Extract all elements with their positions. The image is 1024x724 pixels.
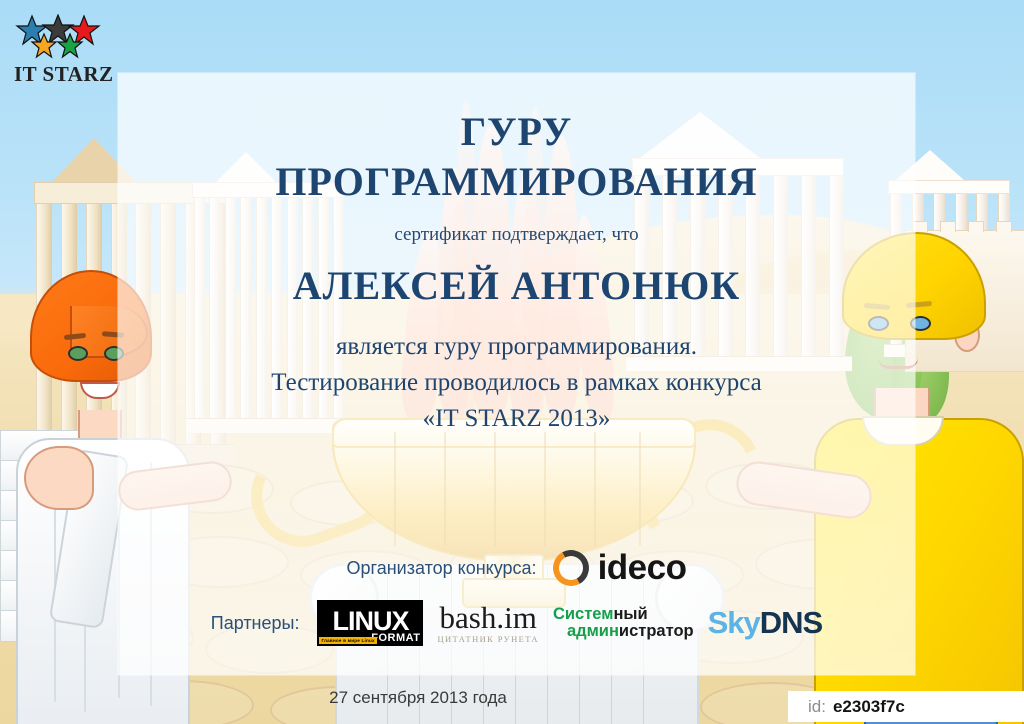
certificate-body-line2: Тестирование проводилось в рамках конкур… xyxy=(118,369,915,397)
woman-eye-left xyxy=(68,346,88,361)
skydns-part2: DNS xyxy=(760,605,822,640)
recipient-name: АЛЕКСЕЙ АНТОНЮК xyxy=(118,262,915,309)
logo-stars xyxy=(14,14,114,58)
sysadmin-row1: Системный xyxy=(553,606,694,623)
certificate-id-value: e2303f7c xyxy=(833,697,905,717)
sysadmin-row2-black: истратор xyxy=(619,622,694,640)
partner-logo-sistemny-administrator: Системный администратор xyxy=(553,606,694,640)
sysadmin-row1-green: Систем xyxy=(553,605,613,623)
certificate-canvas: IT STARZ ГУРУ ПРОГРАММИРОВАНИЯ сертифика… xyxy=(0,0,1024,724)
certificate-body-line3: «IT STARZ 2013» xyxy=(118,405,915,433)
certificate-id-label: id: xyxy=(808,697,826,717)
linux-format-sub: FORMAT xyxy=(371,632,420,644)
certificate-id-box: id: e2303f7c xyxy=(788,691,1024,722)
certificate-body-line1: является гуру программирования. xyxy=(118,333,915,361)
organizer-label: Организатор конкурса: xyxy=(347,558,537,579)
partners-row: Партнеры: LINUX FORMAT Главное в мире Li… xyxy=(118,600,915,646)
partner-logo-skydns: SkyDNS xyxy=(708,605,823,641)
sysadmin-row1-black: ный xyxy=(613,605,647,623)
woman-mouth xyxy=(80,382,120,399)
certificate-date: 27 сентября 2013 года xyxy=(118,688,718,708)
it-starz-logo: IT STARZ xyxy=(14,14,114,92)
certificate-title-line1: ГУРУ xyxy=(118,108,915,155)
sysadmin-row2-green: админ xyxy=(567,622,619,640)
ideco-wordmark: ideco xyxy=(598,548,687,588)
partner-logo-linux-format: LINUX FORMAT Главное в мире Linux xyxy=(317,600,423,646)
ideco-logo: ideco xyxy=(553,548,687,588)
organizer-row: Организатор конкурса: ideco xyxy=(118,548,915,588)
certificate-title-line2: ПРОГРАММИРОВАНИЯ xyxy=(118,158,915,205)
partners-label: Партнеры: xyxy=(211,613,300,634)
certificate-subline: сертификат подтверждает, что xyxy=(118,224,915,246)
star-red xyxy=(69,16,99,44)
bash-im-main: bash.im xyxy=(440,602,537,633)
ideco-swirl-icon xyxy=(553,550,589,586)
woman-shoulder xyxy=(24,446,94,510)
bash-im-sub: ЦИТАТНИК РУНЕТА xyxy=(437,634,538,644)
partner-logo-bash-im: bash.im ЦИТАТНИК РУНЕТА xyxy=(437,602,538,644)
skydns-part1: Sky xyxy=(708,605,760,640)
linux-format-tagline: Главное в мире Linux xyxy=(319,637,376,644)
sysadmin-row2: администратор xyxy=(567,623,694,640)
stars-icon xyxy=(14,14,114,60)
logo-wordmark: IT STARZ xyxy=(14,62,114,87)
linux-format-main: LINUX xyxy=(317,608,423,635)
